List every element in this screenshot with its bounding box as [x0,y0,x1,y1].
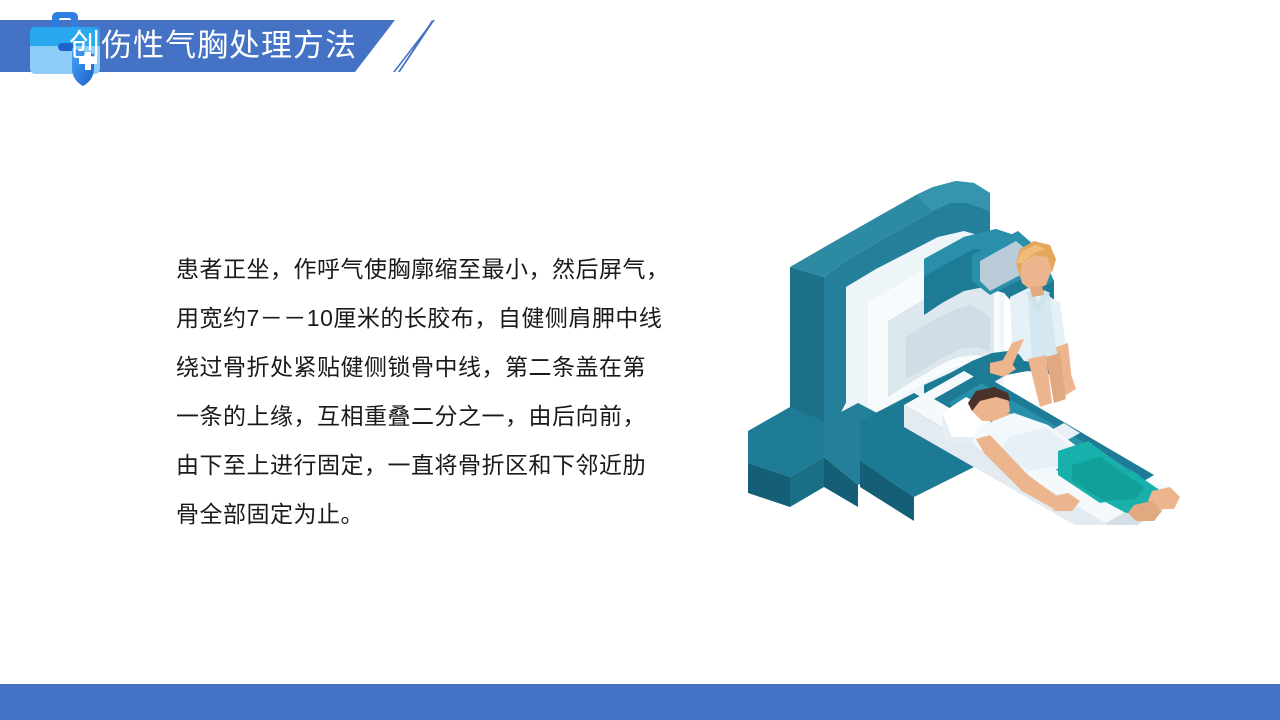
body-line: 一条的上缘，互相重叠二分之一，由后向前， [176,392,691,441]
page-title: 创伤性气胸处理方法 [69,19,357,72]
nurse-neck [1030,285,1044,297]
body-line: 用宽约7－－10厘米的长胶布，自健侧肩胛中线 [176,294,691,343]
ct-scanner-illustration [728,145,1188,525]
body-line: 绕过骨折处紧贴健侧锁骨中线，第二条盖在第 [176,343,691,392]
body-line: 由下至上进行固定，一直将骨折区和下邻近肋 [176,441,691,490]
body-paragraph: 患者正坐，作呼气使胸廓缩至最小，然后屏气， 用宽约7－－10厘米的长胶布，自健侧… [176,245,691,539]
slide-canvas: 创伤性气胸处理方法 患者正坐，作呼气使胸廓缩至最小，然后屏气， 用宽约7－－10… [0,0,1280,720]
body-line: 患者正坐，作呼气使胸廓缩至最小，然后屏气， [176,245,691,294]
header-banner-slash-2 [398,20,432,72]
footer-bar [0,684,1280,720]
body-line: 骨全部固定为止。 [176,490,691,539]
